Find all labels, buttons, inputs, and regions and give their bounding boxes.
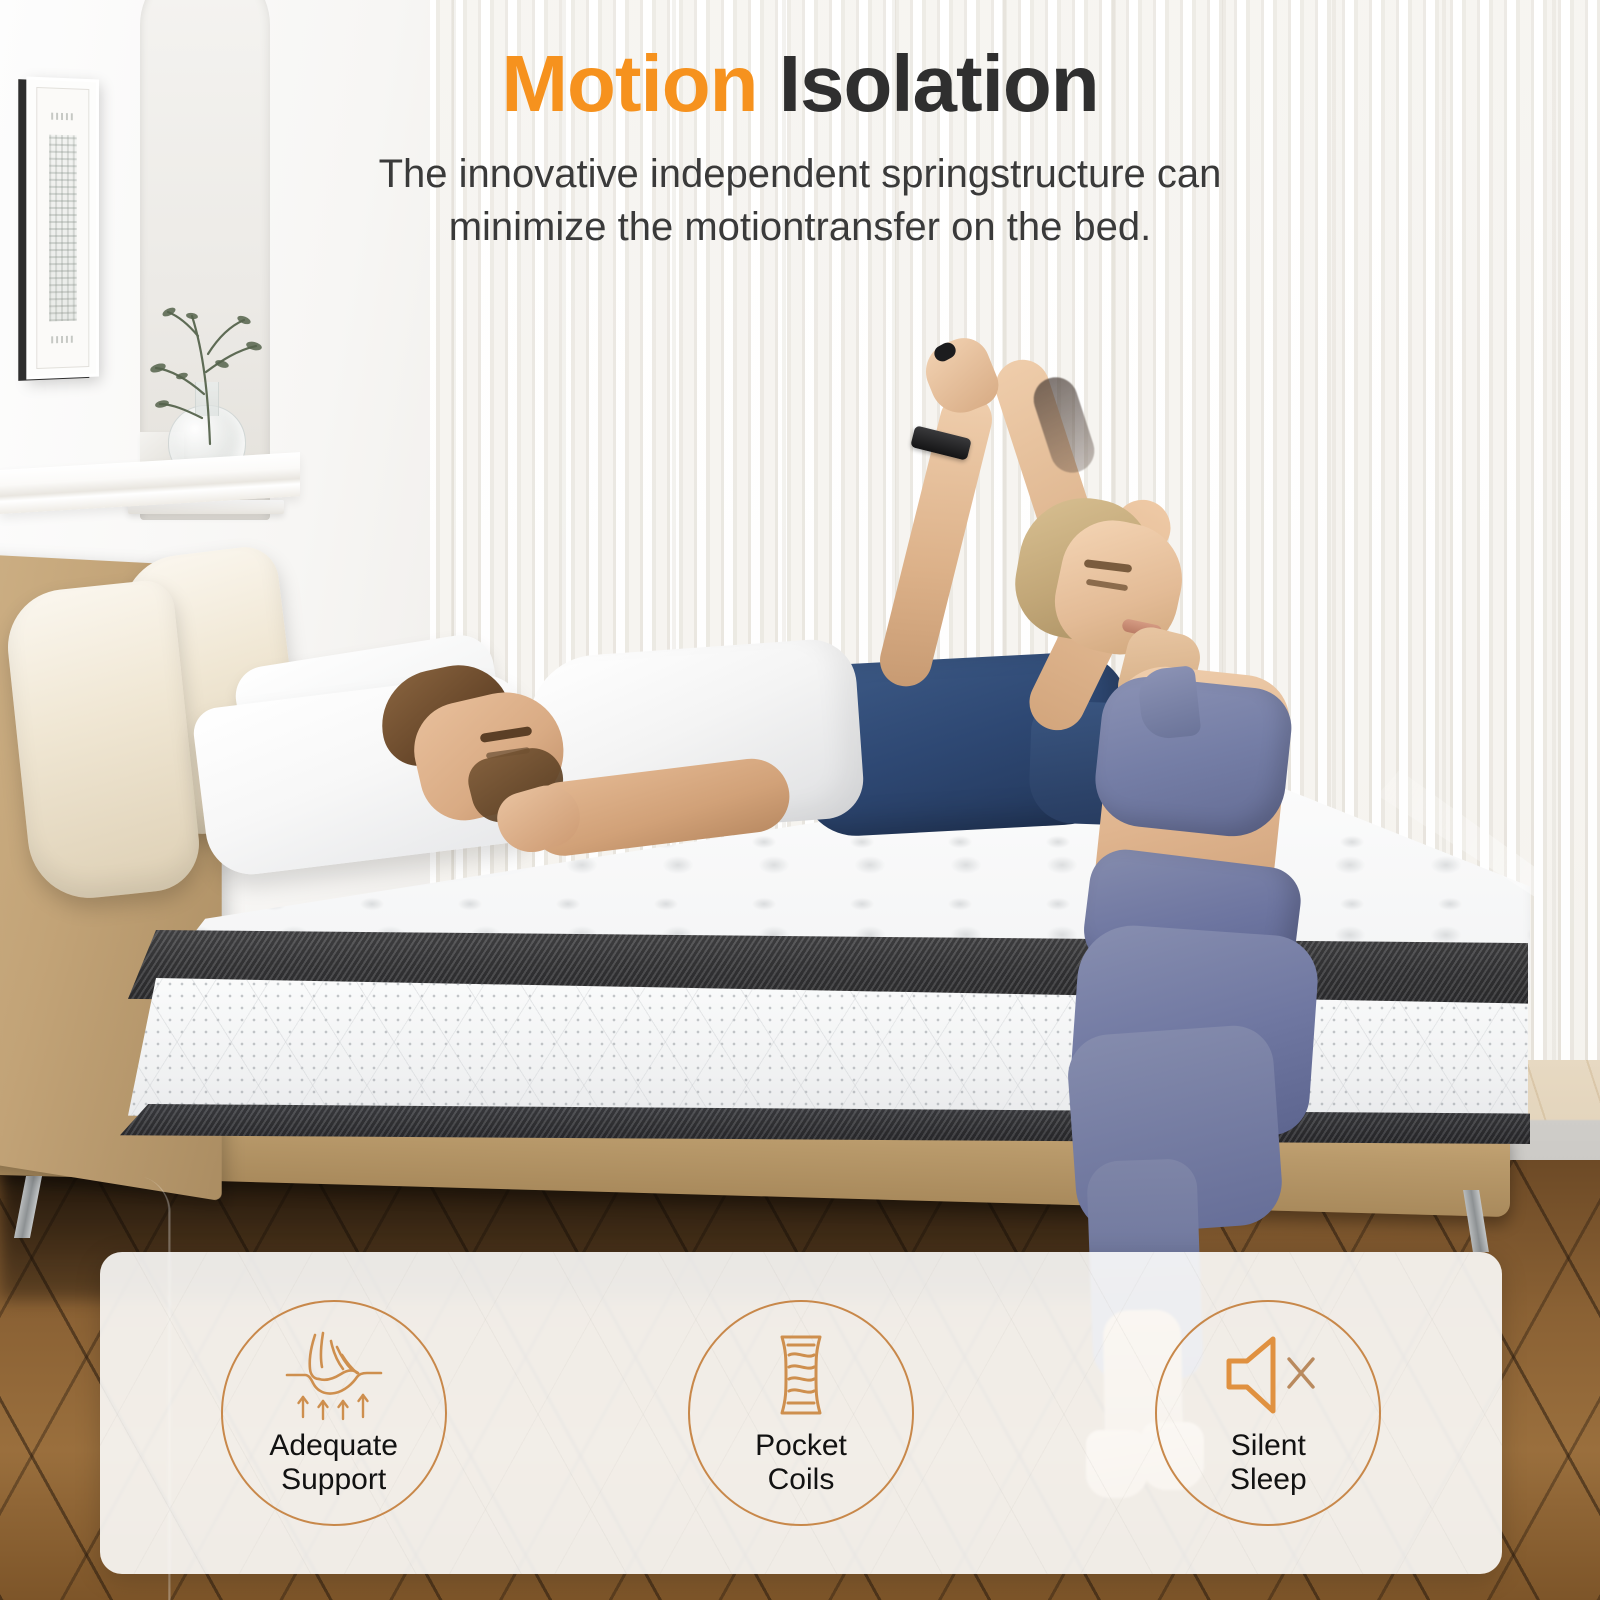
feature-label-line-2: Sleep [1230,1463,1307,1497]
artwork-mat [36,87,89,369]
subheadline-line-1: The innovative independent springstructu… [379,152,1222,196]
dried-branch-icon [118,276,298,446]
headline-highlight: Motion [501,39,757,128]
feature-panel: Adequate Support [100,1252,1502,1574]
subheadline: The innovative independent springstructu… [280,148,1320,254]
feature-label-line-2: Support [269,1463,397,1497]
feature-badge-silent-sleep[interactable]: Silent Sleep [1155,1300,1381,1526]
feature-badge-pocket-coils[interactable]: Pocket Coils [688,1300,914,1526]
feature-label-line-1: Silent [1230,1429,1307,1463]
product-scene: Motion Isolation The innovative independ… [0,0,1600,1600]
pocket-coil-spring-icon [746,1329,856,1421]
speaker-mute-icon [1213,1329,1323,1421]
stretching-woman [890,330,1360,1290]
feature-badge-adequate-support[interactable]: Adequate Support [221,1300,447,1526]
artwork-caption-bottom [51,336,75,344]
feature-label-line-1: Pocket [755,1429,847,1463]
feature-label-line-1: Adequate [269,1429,397,1463]
woman-clasped-hands [917,330,1005,421]
subheadline-line-2: minimize the motiontransfer on the bed. [449,205,1152,249]
feature-badge-label: Pocket Coils [755,1429,847,1496]
feature-badge-label: Adequate Support [269,1429,397,1496]
feature-badge-label: Silent Sleep [1230,1429,1307,1496]
hand-pressing-mattress-icon [279,1329,389,1421]
artwork-print [49,135,76,322]
feature-label-line-2: Coils [755,1463,847,1497]
headboard-bolster-front [2,578,203,904]
page-title: Motion Isolation [0,42,1600,126]
headline-rest: Isolation [779,39,1099,128]
